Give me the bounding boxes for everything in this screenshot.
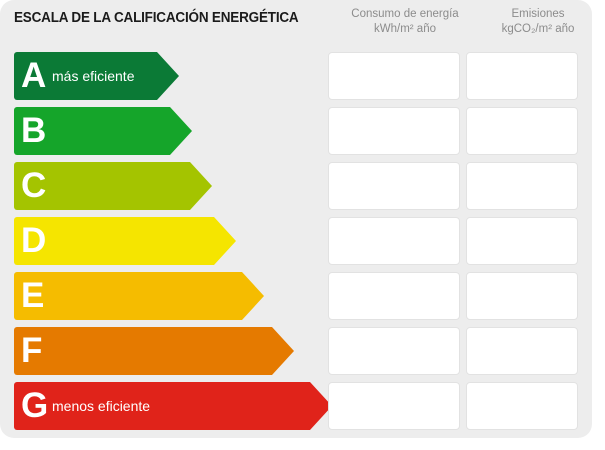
- rating-band-g[interactable]: Gmenos eficiente: [14, 382, 332, 430]
- column-header-consumo-line2: kWh/m² año: [325, 22, 485, 37]
- rating-band-a[interactable]: Amás eficiente: [14, 52, 179, 100]
- rating-band-arrow-e: [14, 272, 264, 320]
- emisiones-cell-b[interactable]: [466, 107, 578, 155]
- rating-letter-e: E: [21, 278, 44, 313]
- consumo-cell-f[interactable]: [328, 327, 460, 375]
- column-header-emisiones: Emisiones kgCO₂/m² año: [483, 7, 593, 37]
- card-header: ESCALA DE LA CALIFICACIÓN ENERGÉTICA Con…: [0, 0, 592, 48]
- column-header-emisiones-line2: kgCO₂/m² año: [483, 22, 593, 37]
- rating-letter-d: D: [21, 223, 46, 258]
- emisiones-cell-e[interactable]: [466, 272, 578, 320]
- rating-band-arrow-d: [14, 217, 236, 265]
- emisiones-cell-g[interactable]: [466, 382, 578, 430]
- rating-note-a: más eficiente: [52, 68, 134, 84]
- rating-letter-b: B: [21, 113, 46, 148]
- rating-band-e[interactable]: E: [14, 272, 264, 320]
- rating-row-a: Amás eficiente: [0, 52, 592, 100]
- rating-band-b[interactable]: B: [14, 107, 192, 155]
- rating-band-d[interactable]: D: [14, 217, 236, 265]
- energy-rating-card: ESCALA DE LA CALIFICACIÓN ENERGÉTICA Con…: [0, 0, 592, 438]
- rating-letter-c: C: [21, 168, 46, 203]
- consumo-cell-a[interactable]: [328, 52, 460, 100]
- rating-band-arrow-f: [14, 327, 294, 375]
- consumo-cell-e[interactable]: [328, 272, 460, 320]
- consumo-cell-b[interactable]: [328, 107, 460, 155]
- rating-letter-a: A: [21, 58, 46, 93]
- column-header-consumo: Consumo de energía kWh/m² año: [325, 7, 485, 37]
- consumo-cell-g[interactable]: [328, 382, 460, 430]
- consumo-cell-c[interactable]: [328, 162, 460, 210]
- rating-row-e: E: [0, 272, 592, 320]
- rating-row-f: F: [0, 327, 592, 375]
- rating-band-f[interactable]: F: [14, 327, 294, 375]
- rating-note-g: menos eficiente: [52, 398, 150, 414]
- emisiones-cell-d[interactable]: [466, 217, 578, 265]
- emisiones-cell-c[interactable]: [466, 162, 578, 210]
- rating-row-g: Gmenos eficiente: [0, 382, 592, 430]
- rating-letter-g: G: [21, 388, 48, 423]
- rating-row-d: D: [0, 217, 592, 265]
- rating-letter-f: F: [21, 333, 42, 368]
- rating-row-b: B: [0, 107, 592, 155]
- rating-row-c: C: [0, 162, 592, 210]
- page-title: ESCALA DE LA CALIFICACIÓN ENERGÉTICA: [14, 10, 298, 26]
- column-header-consumo-line1: Consumo de energía: [351, 8, 458, 20]
- column-header-emisiones-line1: Emisiones: [511, 8, 564, 20]
- emisiones-cell-a[interactable]: [466, 52, 578, 100]
- consumo-cell-d[interactable]: [328, 217, 460, 265]
- emisiones-cell-f[interactable]: [466, 327, 578, 375]
- rating-band-c[interactable]: C: [14, 162, 212, 210]
